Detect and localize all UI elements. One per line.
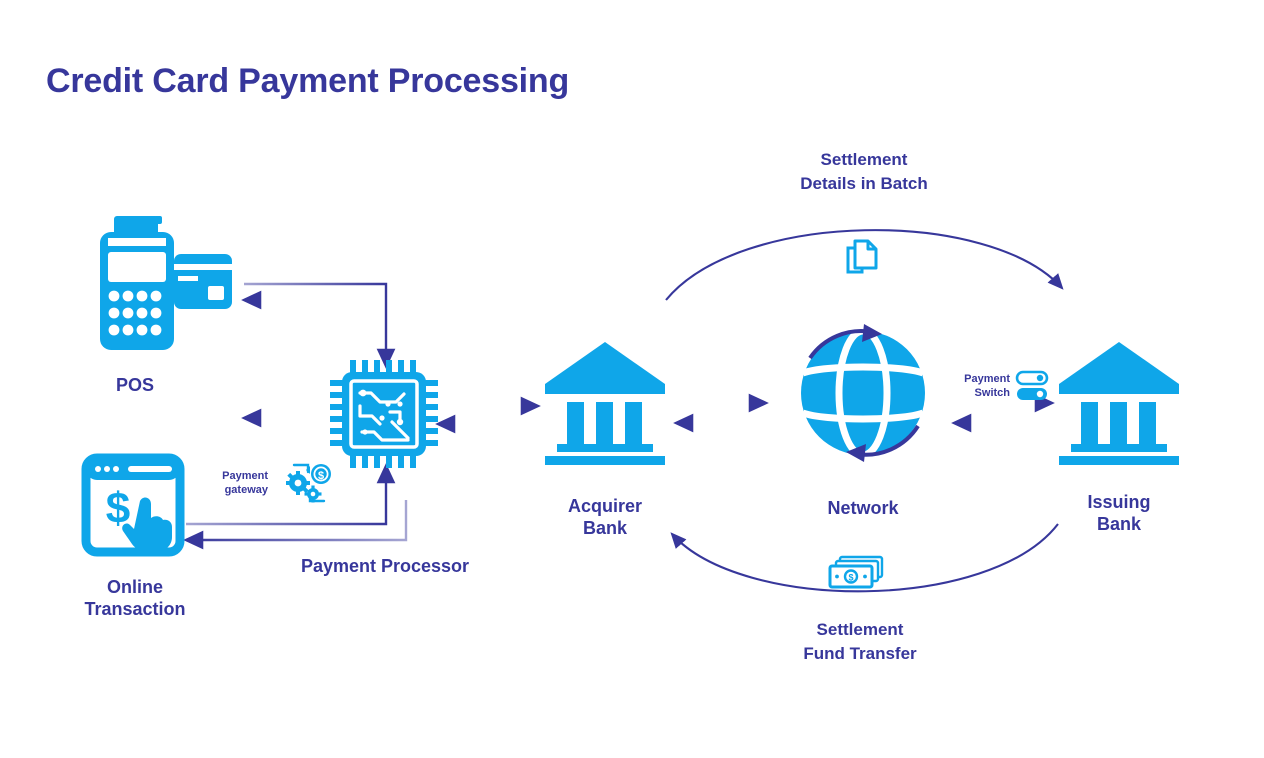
node-label-online-transaction: OnlineTransaction bbox=[62, 577, 208, 621]
documents-icon bbox=[845, 238, 879, 278]
banknotes-icon: $ bbox=[828, 556, 884, 590]
svg-text:$: $ bbox=[318, 470, 324, 482]
node-label-issuing-bank: IssuingBank bbox=[1039, 492, 1199, 536]
node-label-network: Network bbox=[793, 498, 933, 520]
microchip-icon bbox=[330, 360, 438, 468]
gears-dollar-icon: $ bbox=[284, 461, 334, 505]
flow-pos-to-processor bbox=[244, 284, 386, 366]
settlement-funds-label: SettlementFund Transfer bbox=[740, 618, 980, 666]
online-transaction-icon: $ bbox=[82, 455, 188, 557]
payment-switch-label: PaymentSwitch bbox=[948, 373, 1010, 401]
payment-gateway-label: Paymentgateway bbox=[206, 470, 268, 498]
settlement-batch-label: SettlementDetails in Batch bbox=[744, 148, 984, 196]
svg-text:$: $ bbox=[848, 573, 853, 583]
bank-icon-issuing bbox=[1057, 340, 1181, 465]
node-label-acquirer-bank: AcquirerBank bbox=[525, 496, 685, 540]
pos-terminal-icon bbox=[96, 214, 236, 359]
diagram-canvas: Credit Card Payment Processing bbox=[0, 0, 1264, 758]
node-label-pos: POS bbox=[75, 375, 195, 397]
bank-icon-acquirer bbox=[543, 340, 667, 465]
switch-toggle-icon bbox=[1016, 371, 1048, 403]
node-label-payment-processor: Payment Processor bbox=[274, 556, 496, 578]
flow-processor-to-online bbox=[186, 500, 406, 540]
globe-icon bbox=[790, 318, 940, 468]
